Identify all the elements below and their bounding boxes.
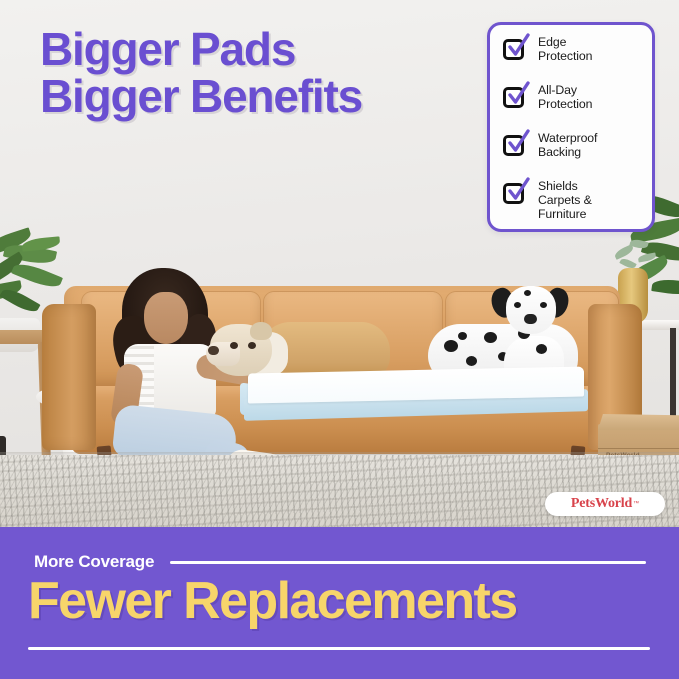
label-line-2: Backing bbox=[538, 145, 581, 159]
label-line-1: All-Day bbox=[538, 83, 577, 97]
label-line-2: Protection bbox=[538, 49, 592, 63]
eucalyptus-sprig bbox=[612, 238, 658, 278]
headline-line-1: Bigger Pads bbox=[40, 26, 460, 73]
headline-line-2: Bigger Benefits bbox=[40, 73, 460, 120]
brand-name: PetsWorld bbox=[571, 496, 632, 512]
bottom-banner: More Coverage Fewer Replacements bbox=[0, 527, 679, 679]
banner-kicker: More Coverage bbox=[34, 552, 154, 572]
checklist-item-label: All-Day Protection bbox=[538, 83, 592, 111]
banner-divider-top bbox=[170, 561, 646, 564]
headline-block: Bigger Pads Bigger Benefits bbox=[40, 26, 460, 120]
product-marketing-image: PetsWorld Puppy Training Pads www.p Bigg… bbox=[0, 0, 679, 679]
checklist-item-label: Waterproof Backing bbox=[538, 131, 597, 159]
banner-kicker-row: More Coverage bbox=[34, 552, 646, 572]
label-line-2: Carpets & bbox=[538, 193, 592, 207]
checklist-item-label: Edge Protection bbox=[538, 35, 592, 63]
label-line-1: Edge bbox=[538, 35, 566, 49]
label-line-1: Shields bbox=[538, 179, 578, 193]
petsworld-logo-badge: PetsWorld ™ bbox=[545, 492, 665, 516]
label-line-1: Waterproof bbox=[538, 131, 597, 145]
area-rug bbox=[0, 455, 679, 527]
checklist-item-edge-protection: Edge Protection bbox=[502, 35, 642, 63]
checklist-item-all-day-protection: All-Day Protection bbox=[502, 83, 642, 111]
label-line-2: Protection bbox=[538, 97, 592, 111]
trademark-symbol: ™ bbox=[633, 501, 639, 507]
checklist-item-label: Shields Carpets & Furniture bbox=[538, 179, 592, 221]
checkbox-checked-icon bbox=[502, 180, 527, 205]
banner-divider-bottom bbox=[28, 647, 650, 650]
checkbox-checked-icon bbox=[502, 84, 527, 109]
banner-headline: Fewer Replacements bbox=[28, 575, 668, 627]
checklist-item-waterproof-backing: Waterproof Backing bbox=[502, 131, 642, 159]
feature-checklist-panel: Edge Protection All-Day Protection Water… bbox=[487, 22, 655, 232]
checkbox-checked-icon bbox=[502, 36, 527, 61]
puppy-training-pad bbox=[248, 370, 584, 418]
checkbox-checked-icon bbox=[502, 132, 527, 157]
checklist-item-shields-carpets-furniture: Shields Carpets & Furniture bbox=[502, 179, 642, 221]
label-line-3: Furniture bbox=[538, 207, 586, 221]
